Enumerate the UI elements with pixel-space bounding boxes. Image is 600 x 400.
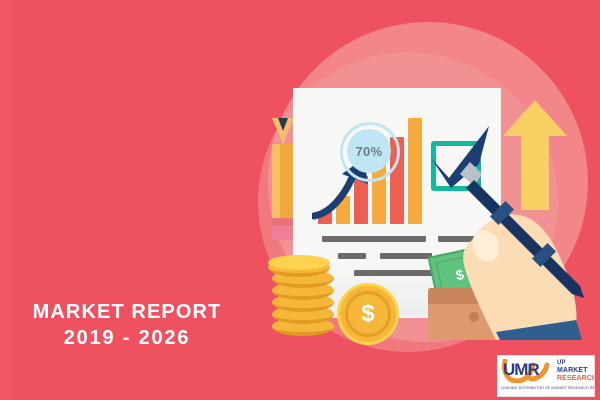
document-line [380, 253, 432, 259]
percent-badge-label: 70% [356, 144, 383, 159]
logo-word-research: RESEARCH [557, 375, 595, 383]
headline: MARKET REPORT 2019 - 2026 [22, 300, 232, 351]
logo-words: UP MARKET RESEARCH [557, 360, 595, 383]
percent-badge: 70% [347, 129, 391, 173]
pencil-ferrule [272, 218, 294, 226]
headline-line-2: 2019 - 2026 [22, 325, 232, 351]
pencil-icon [272, 118, 294, 240]
left-edge-band [0, 0, 10, 400]
logo[interactable]: UMR UP MARKET RESEARCH LEADING DISTRIBUT… [497, 355, 595, 397]
logo-word-up: UP [557, 360, 595, 367]
logo-tagline: LEADING DISTRIBUTOR OF MARKET RESEARCH R… [501, 386, 591, 390]
logo-mark: UMR [503, 361, 539, 378]
document-line [354, 270, 438, 276]
dollar-symbol: $ [361, 302, 374, 326]
chart-bar [408, 118, 422, 224]
pencil-eraser [272, 226, 294, 240]
dollar-coin: $ [337, 283, 399, 345]
pencil-highlight [272, 144, 280, 218]
logo-row: UMR UP MARKET RESEARCH [501, 360, 591, 384]
headline-line-1: MARKET REPORT [22, 300, 232, 325]
pen-illustration [452, 150, 592, 300]
coin-top [268, 255, 330, 270]
pencil-lead [278, 118, 288, 131]
document-line [322, 236, 426, 242]
left-edge-band-secondary [10, 0, 14, 400]
coin-stack [266, 255, 346, 335]
logo-word-market: MARKET [557, 367, 595, 375]
report-cover-image: 70% $ $ [0, 0, 600, 400]
dollar-coin-rim: $ [345, 291, 391, 337]
